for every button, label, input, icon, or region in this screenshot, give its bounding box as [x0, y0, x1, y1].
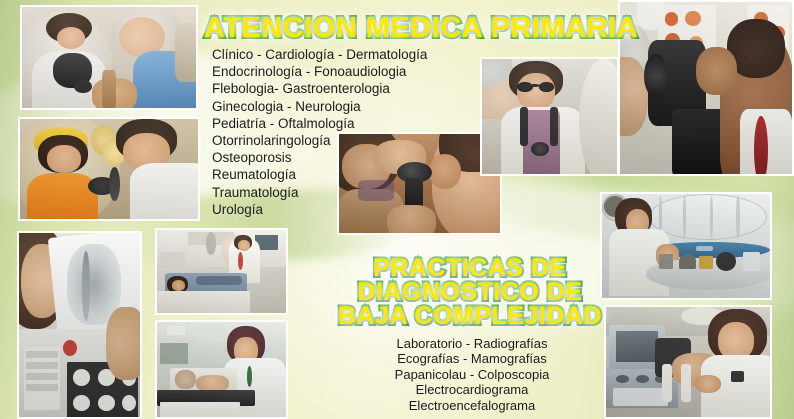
- practices-list: Laboratorio - Radiografías Ecografías - …: [330, 336, 614, 413]
- practice-item: Electrocardiograma: [330, 382, 614, 397]
- photo-nurse-with-elderly-woman: [20, 5, 198, 110]
- photo-pediatrician-with-girl: [18, 117, 200, 221]
- photo-radiography-room-patient: [155, 228, 288, 315]
- page-title: ATENCION MEDICA PRIMARIA: [204, 12, 638, 45]
- subheading-line-3: BAJA COMPLEJIDAD: [318, 302, 622, 331]
- medical-services-poster: ATENCION MEDICA PRIMARIA Clínico - Cardi…: [0, 0, 794, 419]
- specialty-item: Urología: [212, 201, 482, 218]
- photo-doctor-with-stethoscope-elderly-patient: [480, 57, 619, 176]
- practice-item: Ecografías - Mamografías: [330, 351, 614, 366]
- specialty-item: Clínico - Cardiología - Dermatología: [212, 46, 482, 63]
- specialty-item: Ginecologia - Neurologia: [212, 98, 482, 115]
- practice-item: Papanicolau - Colposcopia: [330, 367, 614, 382]
- specialty-item: Traumatología: [212, 184, 482, 201]
- specialty-item: Osteoporosis: [212, 149, 482, 166]
- practice-item: Electroencefalograma: [330, 398, 614, 413]
- photo-doctor-reading-chest-xray: [17, 231, 142, 419]
- photo-laboratory-technician: [600, 192, 772, 300]
- specialty-item: Flebologia- Gastroenterologia: [212, 80, 482, 97]
- practice-item: Laboratorio - Radiografías: [330, 336, 614, 351]
- photo-nurse-at-patient-bedside: [155, 320, 288, 419]
- specialties-list: Clínico - Cardiología - Dermatología End…: [212, 46, 482, 218]
- photo-ultrasound-sonographer: [604, 305, 772, 419]
- specialty-item: Reumatología: [212, 166, 482, 183]
- specialty-item: Endocrinología - Fonoaudiologia: [212, 63, 482, 80]
- specialty-item: Otorrinolaringología: [212, 132, 482, 149]
- photo-ophthalmologist-eye-equipment: [618, 0, 794, 176]
- specialty-item: Pediatría - Oftalmología: [212, 115, 482, 132]
